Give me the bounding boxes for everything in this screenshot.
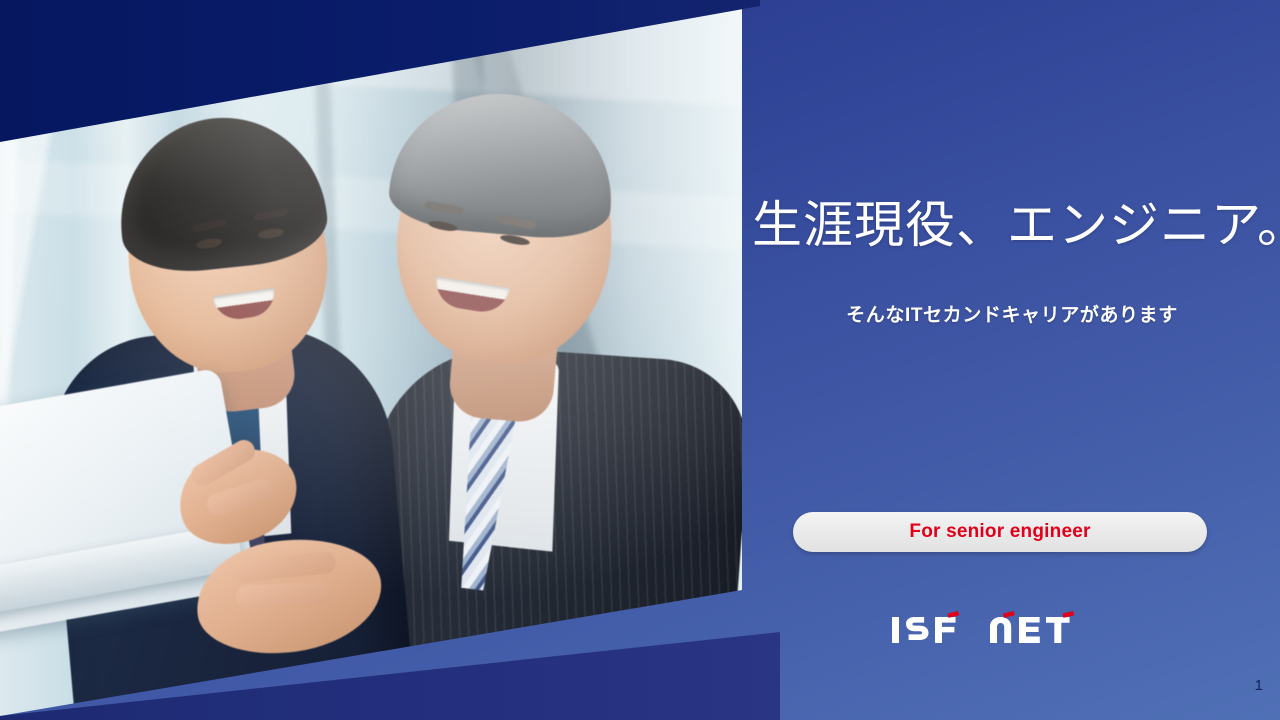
page-title: 生涯現役、エンジニア。 bbox=[752, 196, 1272, 255]
audience-badge: For senior engineer bbox=[793, 512, 1207, 552]
isf-net-logo bbox=[890, 608, 1100, 652]
logo-accent-t bbox=[1063, 611, 1075, 618]
audience-badge-label: For senior engineer bbox=[909, 521, 1090, 543]
supporting-finger-second bbox=[236, 582, 335, 607]
slide-canvas: 生涯現役、エンジニア。 そんなITセカンドキャリアがあります For senio… bbox=[0, 0, 1280, 720]
page-number: 1 bbox=[1255, 677, 1263, 694]
logo-accent-n bbox=[1003, 611, 1015, 618]
logo-accent-f bbox=[948, 611, 960, 618]
page-subtitle: そんなITセカンドキャリアがあります bbox=[752, 300, 1272, 327]
